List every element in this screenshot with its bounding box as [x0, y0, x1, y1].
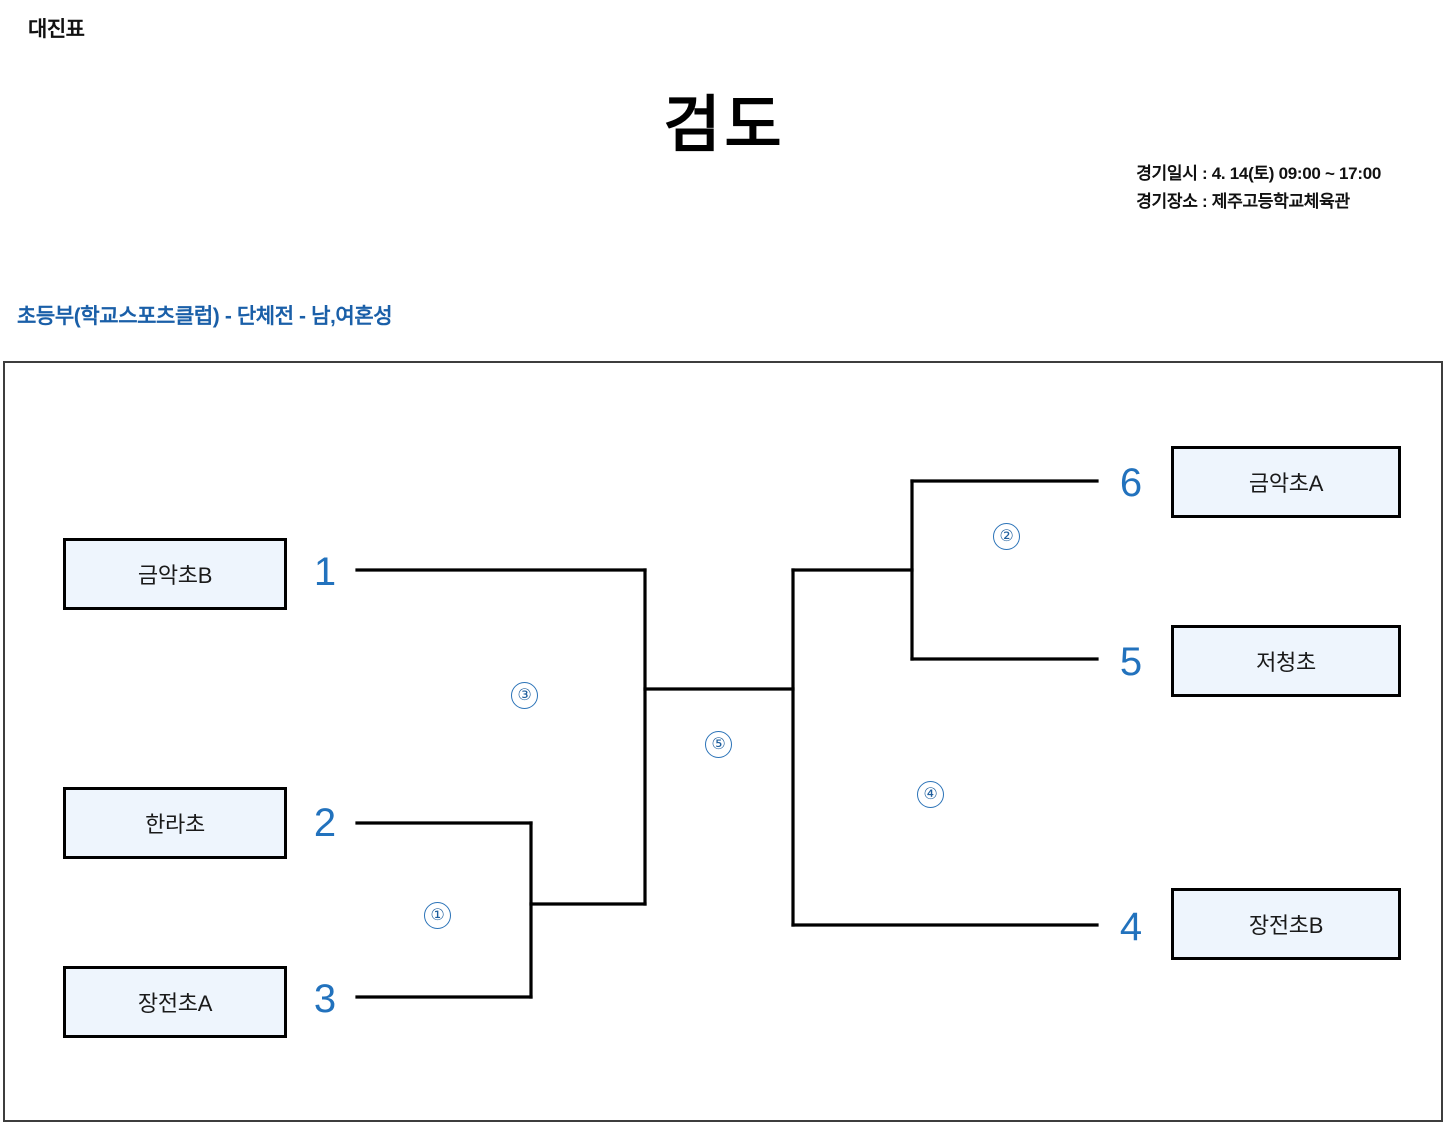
seed-number-3: 3 — [305, 979, 345, 1019]
team-box-left-1[interactable]: 금악초B — [63, 538, 287, 610]
match-venue: 경기장소 : 제주고등학교체육관 — [1136, 188, 1381, 216]
team-box-left-2[interactable]: 한라초 — [63, 787, 287, 859]
team-name: 저청초 — [1256, 645, 1316, 677]
page-title: 검도 — [0, 74, 1449, 164]
match-badge-1: ① — [424, 902, 451, 929]
team-box-right-4[interactable]: 장전초B — [1171, 888, 1401, 960]
seed-number-1: 1 — [305, 552, 345, 592]
match-badge-3: ③ — [511, 682, 538, 709]
match-badge-5: ⑤ — [705, 731, 732, 758]
seed-number-6: 6 — [1111, 463, 1151, 503]
match-meta: 경기일시 : 4. 14(토) 09:00 ~ 17:00 경기장소 : 제주고… — [1136, 160, 1381, 215]
bracket-container: 금악초B 한라초 장전초A 금악초A 저청초 장전초B 1 2 3 6 5 4 … — [3, 361, 1443, 1122]
match-datetime: 경기일시 : 4. 14(토) 09:00 ~ 17:00 — [1136, 160, 1381, 188]
team-name: 한라초 — [145, 807, 205, 839]
team-name: 장전초A — [138, 986, 212, 1018]
document-label: 대진표 — [28, 13, 84, 43]
team-name: 장전초B — [1249, 908, 1323, 940]
seed-number-2: 2 — [305, 803, 345, 843]
match-badge-4: ④ — [917, 781, 944, 808]
seed-number-4: 4 — [1111, 907, 1151, 947]
team-box-left-3[interactable]: 장전초A — [63, 966, 287, 1038]
match-badge-2: ② — [993, 523, 1020, 550]
category-title: 초등부(학교스포츠클럽) - 단체전 - 남,여혼성 — [17, 300, 392, 330]
team-box-right-6[interactable]: 금악초A — [1171, 446, 1401, 518]
team-box-right-5[interactable]: 저청초 — [1171, 625, 1401, 697]
seed-number-5: 5 — [1111, 642, 1151, 682]
team-name: 금악초A — [1249, 466, 1323, 498]
team-name: 금악초B — [138, 558, 212, 590]
